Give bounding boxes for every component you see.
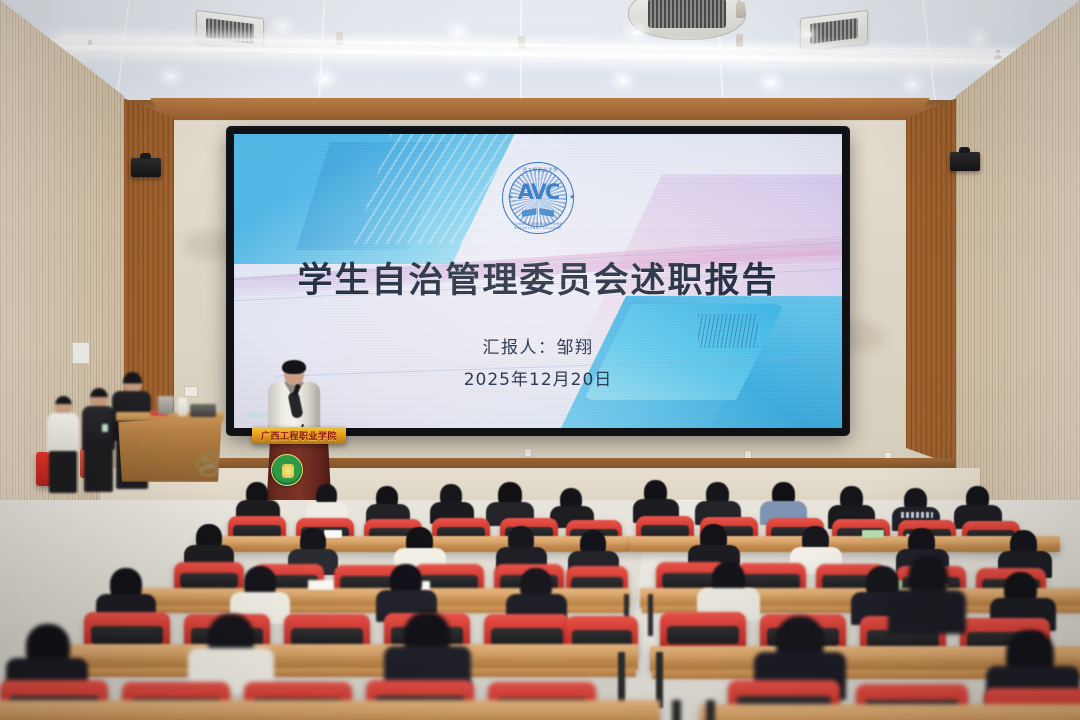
slide-title: 学生自治管理委员会述职报告 xyxy=(297,252,778,303)
desk-leg xyxy=(672,700,681,720)
ceiling-downlight xyxy=(276,22,289,31)
wall-speaker-left xyxy=(131,158,161,177)
cable-loop xyxy=(204,452,218,466)
wall-notice-card xyxy=(72,342,90,364)
person-lower-body xyxy=(49,451,77,493)
led-screen-bezel: 广西工程职业学院 AVC ★ ★ GUANGXI ENGINEERING VOC… xyxy=(228,128,848,434)
auditorium-photo: 广西工程职业学院 AVC ★ ★ GUANGXI ENGINEERING VOC… xyxy=(0,0,1080,720)
slide-date-line: 2025年12月20日 xyxy=(464,365,613,390)
crest-arc-top-text: 广西工程职业学院 xyxy=(502,167,574,173)
smoke-detector xyxy=(518,36,525,49)
desk-green-booklet xyxy=(862,530,884,538)
desk-leg xyxy=(648,594,653,636)
smoke-detector xyxy=(736,2,745,18)
lanyard-badge xyxy=(102,424,108,432)
person-torso xyxy=(82,406,115,450)
ceiling-downlight xyxy=(318,74,331,83)
desk-notebook xyxy=(308,580,334,590)
desk-apron xyxy=(34,668,636,677)
crest-arc-bottom-text: GUANGXI ENGINEERING VOCATIONAL COLLEGE xyxy=(502,222,574,230)
floor-cable-coil xyxy=(196,452,226,482)
desk-leg xyxy=(706,700,715,720)
desk xyxy=(30,644,638,670)
cable-loop xyxy=(200,466,218,476)
presentation-screen[interactable]: 广西工程职业学院 AVC ★ ★ GUANGXI ENGINEERING VOC… xyxy=(234,134,842,428)
person-lower-body xyxy=(84,448,113,492)
smoke-detector xyxy=(736,34,743,47)
college-crest-logo: 广西工程职业学院 AVC ★ ★ GUANGXI ENGINEERING VOC… xyxy=(502,162,574,234)
jersey-text xyxy=(901,512,933,518)
wall-speaker-right xyxy=(950,152,980,171)
desk-notebook xyxy=(324,530,342,538)
audience-shoulders xyxy=(888,590,966,634)
wall-outlet[interactable] xyxy=(524,448,532,457)
ceiling-downlight xyxy=(906,80,919,89)
person-torso xyxy=(47,413,79,453)
table-water-cup xyxy=(178,398,187,416)
desk xyxy=(700,704,1080,720)
ceiling-downlight xyxy=(972,34,985,43)
lectern-name-banner: 广西工程职业学院 xyxy=(252,427,346,444)
wall-outlet[interactable] xyxy=(184,386,198,397)
ceiling-downlight xyxy=(800,30,813,39)
table-laptop xyxy=(158,396,174,414)
table-equipment-box xyxy=(190,404,216,417)
ceiling-downlight xyxy=(630,28,643,37)
lectern-banner-text: 广西工程职业学院 xyxy=(261,429,337,442)
panel-person-2 xyxy=(82,388,116,494)
ceiling-downlight xyxy=(164,72,177,81)
ceiling-downlight xyxy=(452,28,465,37)
slide-content: 广西工程职业学院 AVC ★ ★ GUANGXI ENGINEERING VOC… xyxy=(234,134,842,428)
desk xyxy=(0,700,660,720)
college-emblem-on-lectern xyxy=(271,454,303,486)
panel-person-1 xyxy=(46,396,80,496)
presenter-hair xyxy=(282,360,306,374)
ceiling-downlight xyxy=(616,76,629,85)
slide-presenter-line: 汇报人：邹翔 xyxy=(483,333,594,358)
ceiling-downlight xyxy=(764,78,777,87)
near-right-student xyxy=(880,556,970,676)
ceiling-downlight xyxy=(468,74,481,83)
